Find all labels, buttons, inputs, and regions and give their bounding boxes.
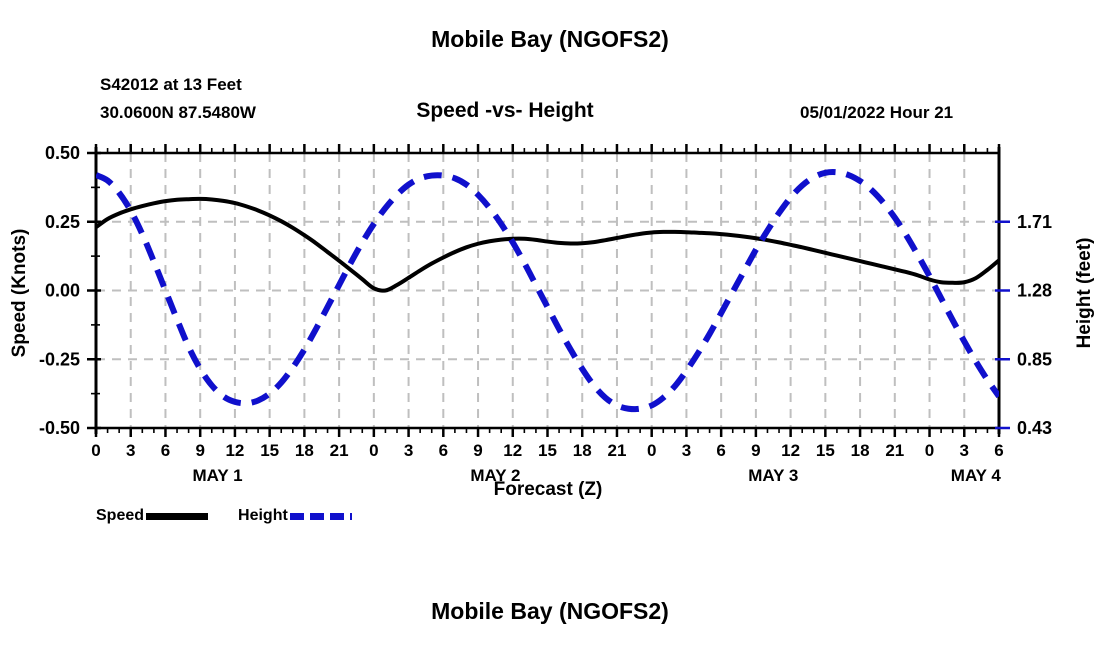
x-tick-label: 6 (439, 441, 448, 460)
x-tick-label: 18 (851, 441, 870, 460)
legend-entry-speed: Speed (96, 507, 238, 525)
y-tick-label-left: 0.00 (45, 281, 80, 301)
y-tick-label-left: -0.50 (39, 418, 80, 438)
y-tick-label-left: 0.25 (45, 212, 80, 232)
y-tick-label-right: 1.71 (1017, 212, 1052, 232)
legend-swatch-speed-icon (146, 513, 208, 520)
x-tick-label: 0 (925, 441, 934, 460)
x-tick-label: 21 (608, 441, 627, 460)
legend-swatch-height-icon (290, 513, 352, 520)
page-title-bottom: Mobile Bay (NGOFS2) (0, 598, 1100, 625)
x-tick-label: 15 (538, 441, 557, 460)
x-tick-label: 0 (369, 441, 378, 460)
x-tick-label: 18 (573, 441, 592, 460)
y-tick-label-left: 0.50 (45, 143, 80, 163)
chart-page: Mobile Bay (NGOFS2) S42012 at 13 Feet 30… (0, 0, 1100, 650)
series-line-speed (96, 199, 999, 291)
x-tick-label: 15 (816, 441, 835, 460)
x-tick-label: 6 (161, 441, 170, 460)
chart-legend: Speed Height (96, 507, 382, 525)
x-tick-label: 6 (716, 441, 725, 460)
legend-label-height: Height (238, 507, 288, 525)
x-tick-label: 9 (473, 441, 482, 460)
y-axis-left-title: Speed (Knots) (9, 193, 31, 393)
chart-plot: 0.500.250.00-0.25-0.501.711.280.850.4303… (0, 0, 1100, 650)
legend-entry-height: Height (238, 507, 382, 525)
x-tick-label: 15 (260, 441, 279, 460)
x-tick-label: 3 (404, 441, 413, 460)
y-tick-label-right: 0.43 (1017, 418, 1052, 438)
x-tick-label: 9 (751, 441, 760, 460)
y-tick-label-left: -0.25 (39, 349, 80, 369)
x-tick-label: 21 (330, 441, 349, 460)
x-tick-label: 0 (91, 441, 100, 460)
x-tick-label: 21 (885, 441, 904, 460)
x-tick-label: 12 (781, 441, 800, 460)
x-tick-label: 9 (195, 441, 204, 460)
y-axis-right-title: Height (feet) (1074, 193, 1096, 393)
x-tick-label: 18 (295, 441, 314, 460)
x-tick-label: 12 (225, 441, 244, 460)
y-tick-label-right: 0.85 (1017, 349, 1052, 369)
y-tick-label-right: 1.28 (1017, 281, 1052, 301)
x-tick-label: 12 (503, 441, 522, 460)
x-tick-label: 6 (994, 441, 1003, 460)
legend-label-speed: Speed (96, 507, 144, 525)
x-tick-label: 3 (682, 441, 691, 460)
x-tick-label: 0 (647, 441, 656, 460)
x-axis-title: Forecast (Z) (96, 479, 1000, 501)
x-tick-label: 3 (960, 441, 969, 460)
x-tick-label: 3 (126, 441, 135, 460)
